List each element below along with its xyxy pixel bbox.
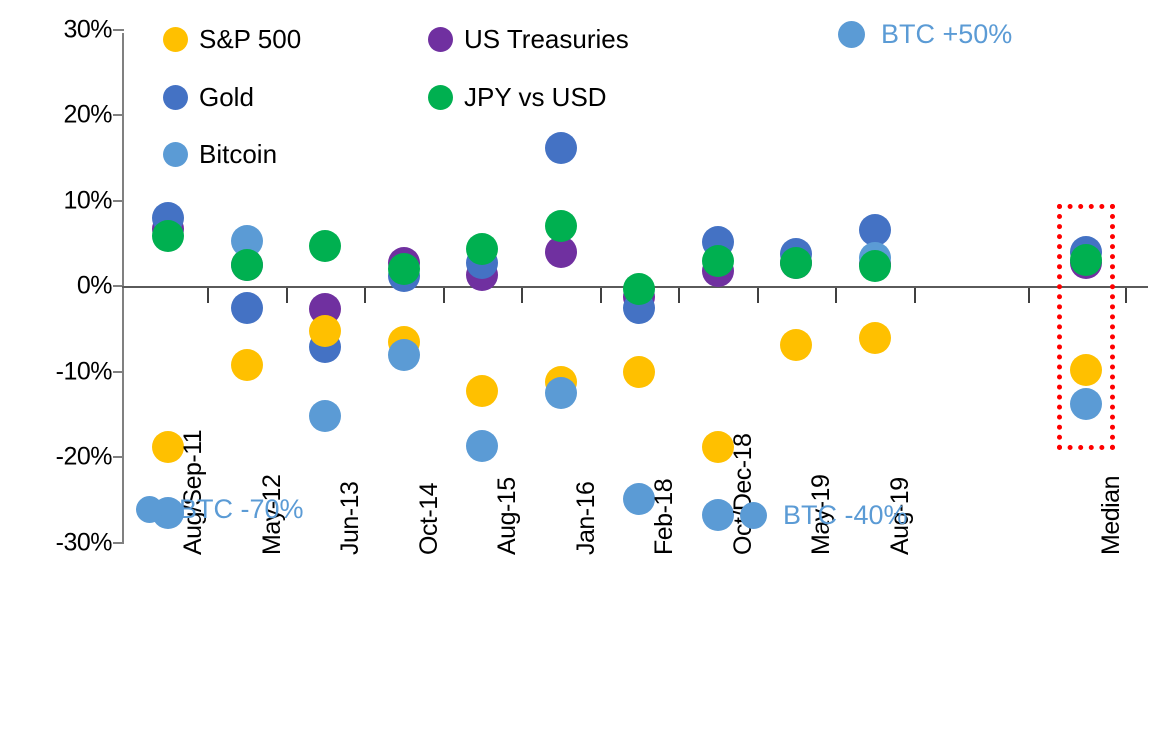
legend-label-us-treasuries: US Treasuries	[464, 24, 629, 55]
legend-item-jpy-vs-usd[interactable]: JPY vs USD	[428, 82, 607, 113]
median-highlight-box	[1057, 204, 1115, 450]
x-category-label: Aug/Sep-11	[179, 430, 208, 555]
legend-swatch-jpy-vs-usd	[428, 85, 453, 110]
annotation-btc-minus-40: BTC -40%	[740, 500, 908, 531]
data-point	[623, 356, 655, 388]
data-point	[466, 375, 498, 407]
annotation-dot-btc-minus-40	[740, 502, 767, 529]
x-category-label: Jan-16	[572, 482, 601, 555]
x-category-label: Jun-13	[336, 482, 365, 555]
annotation-label-btc-minus-40: BTC -40%	[783, 500, 908, 531]
data-point	[623, 273, 655, 305]
legend-swatch-gold	[163, 85, 188, 110]
data-point	[231, 292, 263, 324]
data-point	[545, 377, 577, 409]
annotation-dot-btc-minus-70	[136, 496, 163, 523]
data-point	[702, 245, 734, 277]
legend-swatch-sp500	[163, 27, 188, 52]
data-point	[466, 233, 498, 265]
data-point	[859, 322, 891, 354]
data-point	[231, 249, 263, 281]
data-point	[309, 315, 341, 347]
data-point	[309, 400, 341, 432]
legend-item-us-treasuries[interactable]: US Treasuries	[428, 24, 629, 55]
legend-label-bitcoin: Bitcoin	[199, 139, 277, 170]
legend-label-gold: Gold	[199, 82, 254, 113]
legend-item-sp500[interactable]: S&P 500	[163, 24, 301, 55]
scatter-chart: 30%20%10%0%-10%-20%-30% Aug/Sep-11May-12…	[0, 0, 1151, 739]
data-point	[388, 253, 420, 285]
data-point	[152, 220, 184, 252]
data-point	[231, 349, 263, 381]
annotation-btc-minus-70: BTC -70%	[136, 494, 304, 525]
data-point	[545, 132, 577, 164]
data-point	[780, 329, 812, 361]
data-point	[545, 210, 577, 242]
data-point	[466, 430, 498, 462]
legend-label-jpy-vs-usd: JPY vs USD	[464, 82, 607, 113]
data-point	[859, 250, 891, 282]
legend-label-sp500: S&P 500	[199, 24, 301, 55]
x-category-label: Median	[1097, 476, 1126, 555]
annotation-label-btc-plus-50: BTC +50%	[881, 19, 1012, 50]
data-point	[780, 247, 812, 279]
x-category-label: Oct/Dec-18	[729, 434, 758, 555]
legend-item-bitcoin[interactable]: Bitcoin	[163, 139, 277, 170]
legend-swatch-us-treasuries	[428, 27, 453, 52]
data-point	[388, 339, 420, 371]
x-category-label: Feb-18	[650, 479, 679, 555]
annotation-dot-btc-plus-50	[838, 21, 865, 48]
x-category-label: Aug-15	[493, 477, 522, 555]
legend-swatch-bitcoin	[163, 142, 188, 167]
x-category-label: Oct-14	[415, 483, 444, 555]
annotation-btc-plus-50: BTC +50%	[838, 19, 1012, 50]
annotation-label-btc-minus-70: BTC -70%	[179, 494, 304, 525]
legend-item-gold[interactable]: Gold	[163, 82, 254, 113]
data-point	[309, 230, 341, 262]
